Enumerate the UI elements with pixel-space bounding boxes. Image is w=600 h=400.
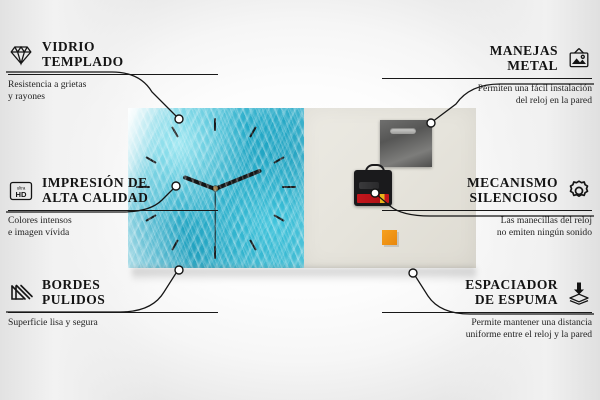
feature-description: Superficie lisa y segura [8, 317, 218, 329]
svg-text:HD: HD [16, 189, 27, 198]
feature-description: Permite mantener una distancia uniforme … [382, 317, 592, 340]
feature-impresion-alta-calidad: ultra HD IMPRESIÓN DE ALTA CALIDAD Color… [8, 176, 218, 239]
infographic-canvas: VIDRIO TEMPLADO Resistencia a grietas y … [0, 0, 600, 400]
movement-hook [365, 164, 385, 175]
feature-header: ultra HD IMPRESIÓN DE ALTA CALIDAD [8, 176, 218, 205]
feature-rule [382, 210, 592, 211]
feature-title: VIDRIO TEMPLADO [42, 40, 124, 69]
feature-description: Permiten una fácil instalación del reloj… [382, 83, 592, 106]
diamond-icon [8, 42, 34, 68]
hanger-slot [390, 128, 416, 134]
arrow-onto-layers-icon [566, 280, 592, 306]
feature-bordes-pulidos: BORDES PULIDOS Superficie lisa y segura [8, 278, 218, 329]
feature-header: MECANISMO SILENCIOSO [382, 176, 592, 205]
feature-mecanismo-silencioso: MECANISMO SILENCIOSO Las manecillas del … [382, 176, 592, 239]
movement-dial [359, 182, 379, 189]
feature-title: IMPRESIÓN DE ALTA CALIDAD [42, 176, 148, 205]
metal-hanger-plate [380, 120, 432, 167]
diagonal-lines-icon [8, 280, 34, 306]
gear-icon [566, 178, 592, 204]
feature-title: ESPACIADOR DE ESPUMA [465, 278, 558, 307]
feature-rule [8, 74, 218, 75]
feature-espaciador-espuma: ESPACIADOR DE ESPUMA Permite mantener un… [382, 278, 592, 341]
feature-title: MANEJAS METAL [490, 44, 558, 73]
ultra-hd-badge-icon: ultra HD [8, 178, 34, 204]
feature-header: MANEJAS METAL [382, 44, 592, 73]
feature-rule [8, 312, 218, 313]
feature-description: Resistencia a grietas y rayones [8, 79, 218, 102]
feature-header: BORDES PULIDOS [8, 278, 218, 307]
feature-rule [382, 78, 592, 79]
feature-header: ESPACIADOR DE ESPUMA [382, 278, 592, 307]
feature-rule [382, 312, 592, 313]
feature-title: BORDES PULIDOS [42, 278, 105, 307]
feature-description: Las manecillas del reloj no emiten ningú… [382, 215, 592, 238]
feature-rule [8, 210, 218, 211]
feature-manejas-metal: MANEJAS METAL Permiten una fácil instala… [382, 44, 592, 107]
feature-vidrio-templado: VIDRIO TEMPLADO Resistencia a grietas y … [8, 40, 218, 103]
feature-title: MECANISMO SILENCIOSO [467, 176, 558, 205]
feature-header: VIDRIO TEMPLADO [8, 40, 218, 69]
hanging-frame-icon [566, 46, 592, 72]
feature-description: Colores intensos e imagen vívida [8, 215, 218, 238]
clock-hand-minute [214, 168, 262, 190]
